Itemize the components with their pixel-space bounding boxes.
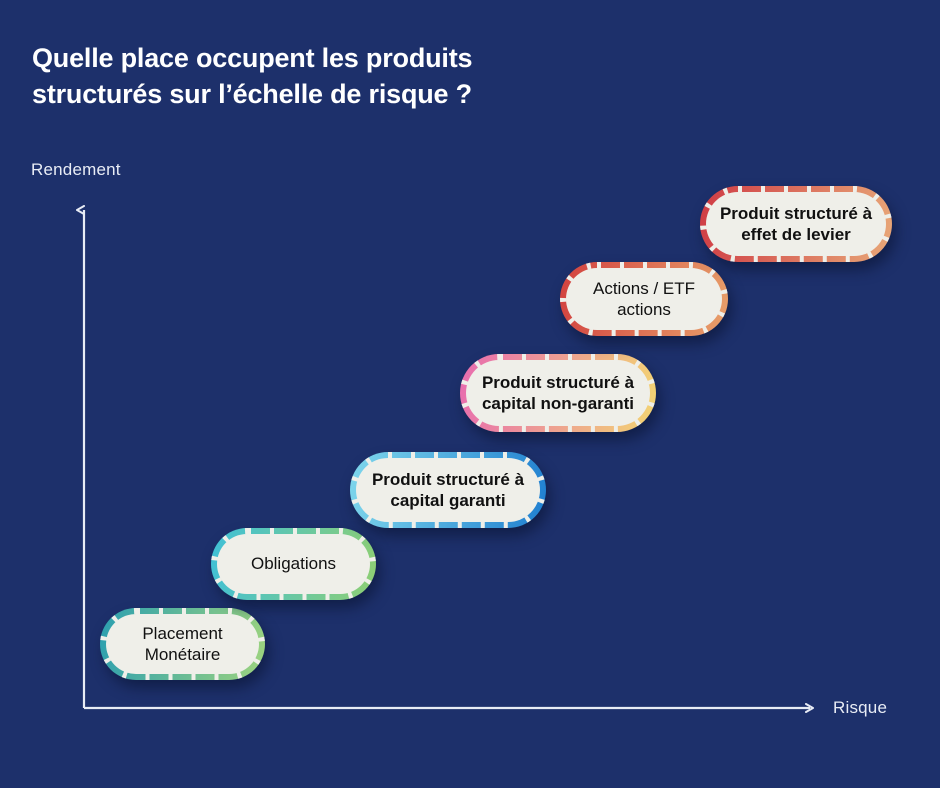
step-pill-produit-structure-capital-non-garanti[interactable]: Produit structuré à capital non-garanti xyxy=(460,354,656,432)
step-pill-produit-structure-capital-garanti[interactable]: Produit structuré à capital garanti xyxy=(350,452,546,528)
step-pill-actions-etf-actions[interactable]: Actions / ETF actions xyxy=(560,262,728,336)
y-axis-label: Rendement xyxy=(31,160,121,180)
pill-label: Produit structuré à capital garanti xyxy=(372,469,524,512)
step-pill-placement-monetaire[interactable]: Placement Monétaire xyxy=(100,608,265,680)
pill-label: Placement Monétaire xyxy=(142,623,222,666)
pill-label: Produit structuré à capital non-garanti xyxy=(482,372,634,415)
pill-label: Actions / ETF actions xyxy=(593,278,695,321)
diagram-canvas: Quelle place occupent les produits struc… xyxy=(0,0,940,788)
page-title: Quelle place occupent les produits struc… xyxy=(32,40,592,112)
step-pill-produit-structure-effet-de-levier[interactable]: Produit structuré à effet de levier xyxy=(700,186,892,262)
step-pill-obligations[interactable]: Obligations xyxy=(211,528,376,600)
pill-label: Obligations xyxy=(251,553,336,574)
pill-label: Produit structuré à effet de levier xyxy=(720,203,872,246)
x-axis-label: Risque xyxy=(833,698,887,718)
